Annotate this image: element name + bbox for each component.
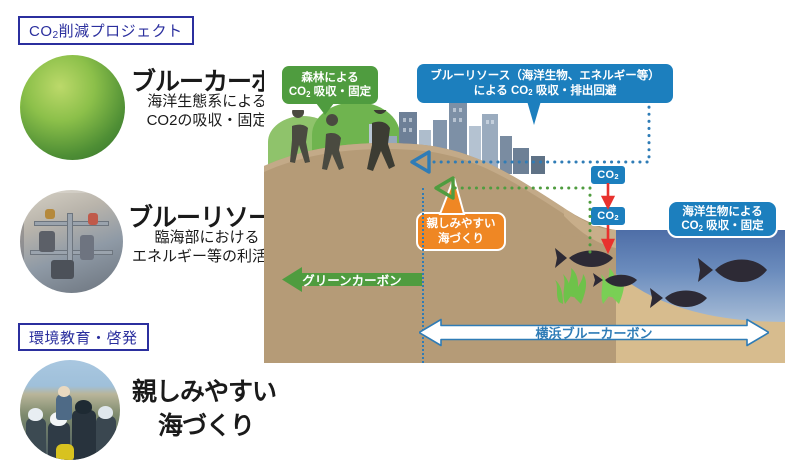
badge-environmental-education: 環境教育・啓発 [18, 323, 149, 351]
callout-marine-life-line1: 海洋生物による [681, 205, 763, 219]
industrial-plant-photo [20, 190, 123, 293]
callout-forest: 森林による CO2 吸収・固定 [282, 66, 378, 104]
forest-photo [20, 55, 125, 160]
badge-co2-reduction: CO2削減プロジェクト [18, 16, 194, 45]
callout-marine-life-line2: CO2 吸収・固定 [681, 219, 763, 233]
callout-forest-line2: CO2 吸収・固定 [289, 85, 371, 99]
callout-forest-line1: 森林による [289, 71, 371, 85]
project-subtitle-line2: CO2の吸収・固定 [131, 111, 283, 130]
bar-arrow-yokohama-blue-carbon-label: 横浜ブルーカーボン [535, 323, 652, 342]
callout-forest-tail [316, 103, 334, 115]
badge-co2-reduction-label: CO2削減プロジェクト [29, 20, 183, 41]
project-title-friendly-sea-line1: 親しみやすい [132, 372, 276, 408]
callout-blue-resource-line1: ブルーリソース（海洋生物、エネルギー等） [430, 69, 659, 83]
badge-environmental-education-label: 環境教育・啓発 [29, 327, 138, 348]
project-title-friendly-sea-line2: 海づくり [158, 406, 254, 442]
project-subtitle-line1: 海洋生態系による [131, 92, 283, 111]
callout-blue-resource-line2: による CO2 吸収・排出回避 [430, 84, 659, 98]
dotted-flow-paths [394, 100, 684, 275]
beach-children-photo [20, 360, 120, 460]
bar-arrow-green-carbon-label: グリーンカーボン [302, 270, 401, 289]
bar-arrow-yokohama-blue-carbon: 横浜ブルーカーボン [419, 318, 769, 347]
callout-blue-resource: ブルーリソース（海洋生物、エネルギー等） による CO2 吸収・排出回避 [417, 64, 673, 103]
project-subtitle-blue-carbon: 海洋生態系による CO2の吸収・固定 [131, 92, 283, 130]
diagram-panel: 森林による CO2 吸収・固定 ブルーリソース（海洋生物、エネルギー等） による… [264, 48, 785, 363]
bar-arrow-green-carbon: グリーンカーボン [282, 266, 422, 293]
